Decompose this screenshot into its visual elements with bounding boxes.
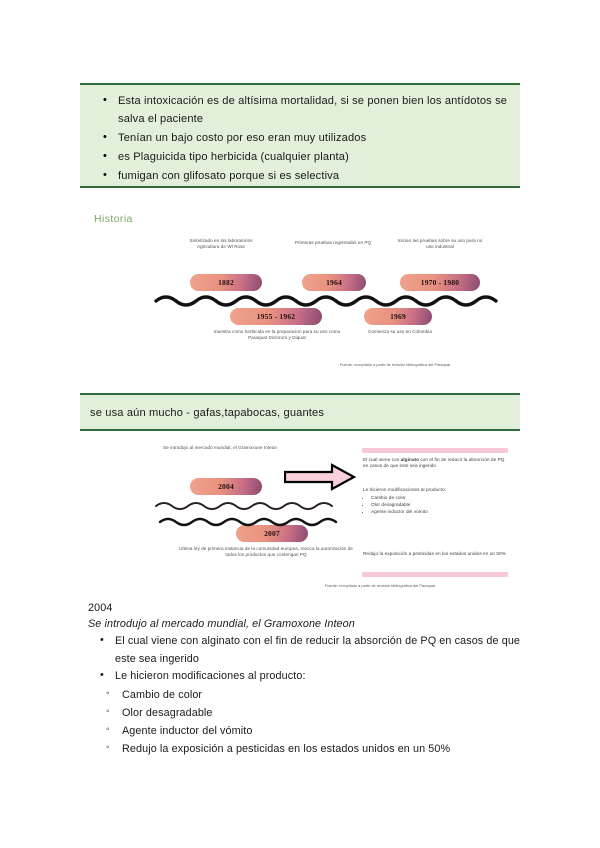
pink-divider-top xyxy=(362,448,508,453)
timeline2-caption-2: Ultima ley de primera instancia de la co… xyxy=(176,546,356,557)
list-item: Redujo la exposición a pesticidas en los… xyxy=(88,740,538,758)
timeline2-wavy-line-lower xyxy=(156,515,356,527)
list-item: Tenían un bajo costo por eso eran muy ut… xyxy=(90,130,510,148)
list-item: es Plaguicida tipo herbicida (cualquier … xyxy=(90,149,510,167)
note-mod-list: Cambio de color Olor desagradable Agente… xyxy=(363,495,509,515)
timeline1-source-note: Fuente: recopilado a partir de revisión … xyxy=(290,362,500,367)
notes-subtitle: Se introdujo al mercado mundial, el Gram… xyxy=(88,616,538,633)
timeline1-pill-1955-1962: 1955 - 1962 xyxy=(230,308,322,325)
notes-section: 2004 Se introdujo al mercado mundial, el… xyxy=(88,600,538,758)
highlight-box-top: Esta intoxicación es de altísima mortali… xyxy=(80,83,520,188)
list-item: Olor desagradable xyxy=(371,502,509,508)
timeline2-wavy-line-upper xyxy=(150,498,350,512)
figure-timeline-history: Sintetizado en los laboratorios Agricult… xyxy=(150,236,510,376)
timeline1-pill-1970-1980: 1970 - 1980 xyxy=(400,274,480,291)
note-alginato-bold: alginato xyxy=(401,457,419,462)
timeline1-pill-1882: 1882 xyxy=(190,274,262,291)
mid-box-text: se usa aún mucho - gafas,tapabocas, guan… xyxy=(90,405,510,422)
pink-divider-bottom xyxy=(362,572,508,577)
list-item: Cambio de color xyxy=(371,495,509,501)
list-item: Esta intoxicación es de altísima mortali… xyxy=(90,93,510,128)
notes-sub-bullet-list: Cambio de color Olor desagradable Agente… xyxy=(88,686,538,758)
notes-bullet-list: El cual viene con alginato con el fin de… xyxy=(88,633,538,686)
figure-timeline-gramoxone: Se introdujo al mercado mundial, el Gram… xyxy=(150,443,510,595)
list-item: Le hicieron modificaciones al producto: xyxy=(88,668,538,686)
note-mod-title: Le hicieron modificaciones al producto: xyxy=(363,487,509,493)
timeline2-caption-1: Se introdujo al mercado mundial, el Gram… xyxy=(160,445,280,451)
top-box-bullet-list: Esta intoxicación es de altísima mortali… xyxy=(90,93,510,185)
timeline1-caption-2: Primeras pruebas registradas en PQ xyxy=(292,240,374,246)
list-item: Olor desagradable xyxy=(88,704,538,722)
section-label-historia: Historia xyxy=(94,213,133,225)
note-alginato-pre: El cual viene con xyxy=(363,457,401,462)
timeline1-caption-5: Comienza su uso en Colombia xyxy=(354,329,446,335)
timeline2-note-modificaciones: Le hicieron modificaciones al producto: … xyxy=(363,487,509,516)
highlight-box-middle: se usa aún mucho - gafas,tapabocas, guan… xyxy=(80,393,520,431)
list-item: fumigan con glifosato porque si es selec… xyxy=(90,168,510,186)
right-arrow-icon xyxy=(284,463,356,491)
list-item: Agente inductor del vómito xyxy=(88,722,538,740)
list-item: Agente inductor del vómito xyxy=(371,509,509,515)
timeline1-pill-1964: 1964 xyxy=(302,274,366,291)
timeline1-caption-3: Inician las pruebas sobre su uso para no… xyxy=(394,238,486,249)
timeline2-note-alginato: El cual viene con alginato con el fin de… xyxy=(363,457,509,470)
timeline2-pill-2007: 2007 xyxy=(236,525,308,542)
notes-year: 2004 xyxy=(88,600,538,616)
list-item: Cambio de color xyxy=(88,686,538,704)
timeline1-caption-4: muestra como herbicida en la preparación… xyxy=(212,329,342,340)
timeline1-wavy-line-top xyxy=(150,293,510,307)
timeline2-pill-2004: 2004 xyxy=(190,478,262,495)
timeline2-source-note: Fuente: recopilado a partir de revisión … xyxy=(275,583,485,588)
timeline1-caption-1: Sintetizado en los laboratorios Agricult… xyxy=(178,238,264,249)
timeline1-pill-1969: 1969 xyxy=(364,308,432,325)
list-item: El cual viene con alginato con el fin de… xyxy=(88,633,538,668)
timeline2-note-exposicion: Redujo la exposición a pesticidas en los… xyxy=(363,551,509,557)
